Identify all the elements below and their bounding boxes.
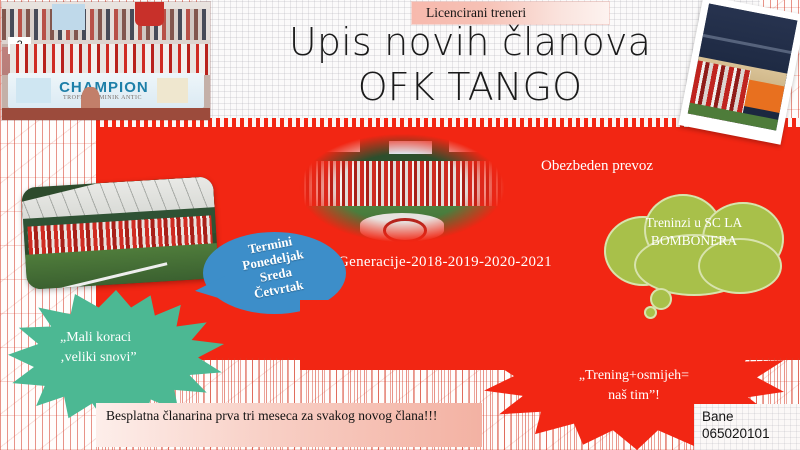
photo-wall-poster-blue — [52, 4, 85, 30]
photo-banner-subtitle: TROFEJ DOMINIK ANTIC — [63, 95, 142, 101]
licensed-trainers-banner: Licencirani treneri — [412, 2, 609, 24]
photo-wall-poster-red — [135, 2, 164, 26]
green-slogan-line-2: ‚veliki snovi” — [60, 348, 220, 368]
free-membership-text: Besplatna članarina prva tri meseca za s… — [106, 407, 478, 426]
poster-canvas: Upis novih članova OFK TANGO Licencirani… — [0, 0, 800, 450]
licensed-trainers-label: Licencirani treneri — [426, 5, 526, 21]
photo-champion-team: 2 CHAMPION TROFEJ DOMINIK ANTIC — [2, 2, 210, 120]
contact-box: Bane 065020101 — [694, 404, 800, 450]
photo-club-logo — [360, 213, 445, 242]
photo-indoor-hall-group — [21, 176, 219, 290]
cloud-tail-bubble-small — [644, 306, 657, 319]
venue-thought-cloud: Treninzi u SC LA BOMBONERA — [598, 190, 788, 302]
photo-banner-word: CHAMPION — [59, 79, 149, 96]
contact-name: Bane — [702, 409, 734, 424]
photo-champion-banner: CHAMPION TROFEJ DOMINIK ANTIC — [8, 73, 204, 108]
photo-banner-logo-right — [157, 78, 188, 103]
contact-phone: 065020101 — [702, 426, 770, 441]
photo-sign-right — [449, 139, 496, 152]
photo-sign-left — [313, 139, 360, 152]
red-slogan-text: „Trening+osmijeh= naš tim”! — [520, 366, 748, 407]
title-line-1: Upis novih članova — [289, 20, 651, 64]
green-slogan-text: „Mali koraci ‚veliki snovi” — [60, 328, 220, 369]
venue-line-1: Treninzi u SC LA — [608, 214, 780, 232]
photo-sign-center — [389, 141, 431, 154]
photo-polaroid-inner — [688, 3, 798, 130]
page-title: Upis novih članova OFK TANGO — [210, 20, 730, 110]
photo-crowd — [2, 9, 210, 40]
photo-banner-logo-left — [16, 78, 51, 103]
title-line-2: OFK TANGO — [210, 65, 730, 110]
venue-line-2: BOMBONERA — [608, 232, 780, 250]
photo-team-row — [10, 44, 210, 75]
free-membership-banner: Besplatna članarina prva tri meseca za s… — [96, 403, 482, 447]
generations-text: Generacije-2018-2019-2020-2021 — [338, 254, 552, 271]
venue-text: Treninzi u SC LA BOMBONERA — [608, 214, 780, 250]
transport-note: Obezbeden prevoz — [541, 158, 653, 175]
photo-large-group — [300, 161, 504, 210]
photo-floor — [2, 108, 210, 120]
red-slogan-line-1: „Trening+osmijeh= — [520, 366, 748, 386]
